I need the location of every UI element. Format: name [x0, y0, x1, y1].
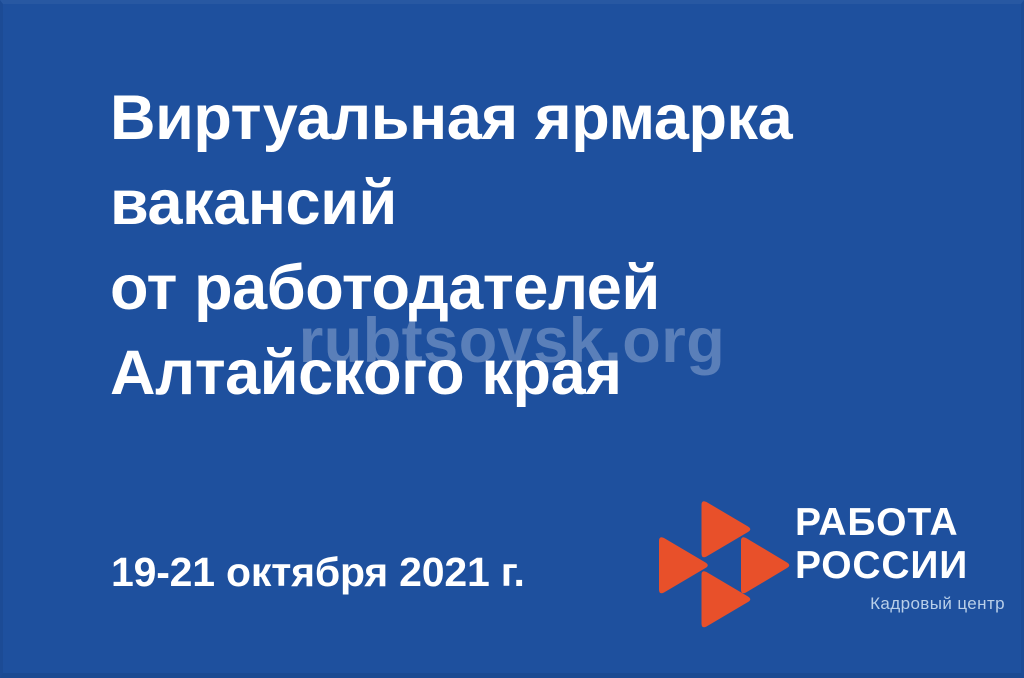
page-title-line-2: вакансий: [110, 161, 950, 246]
rabota-rossii-wordmark: РАБОТА РОССИИ Кадровый центр: [795, 501, 1005, 614]
logo-subtitle: Кадровый центр: [795, 594, 1005, 614]
page-title-line-1: Виртуальная ярмарка: [110, 76, 950, 161]
poster-canvas: Виртуальная ярмарка вакансий от работода…: [0, 0, 1024, 678]
logo-word-rabota: РАБОТА: [795, 501, 1005, 544]
logo-word-rossii: РОССИИ: [795, 544, 1005, 587]
page-title-line-4: Алтайского края: [110, 331, 950, 416]
page-title: Виртуальная ярмарка вакансий от работода…: [110, 76, 950, 416]
event-date: 19-21 октября 2021 г.: [111, 549, 525, 596]
page-title-line-3: от работодателей: [110, 246, 950, 331]
rabota-rossii-triangles-icon: [655, 498, 791, 630]
rabota-rossii-logo: РАБОТА РОССИИ Кадровый центр: [655, 495, 1005, 635]
